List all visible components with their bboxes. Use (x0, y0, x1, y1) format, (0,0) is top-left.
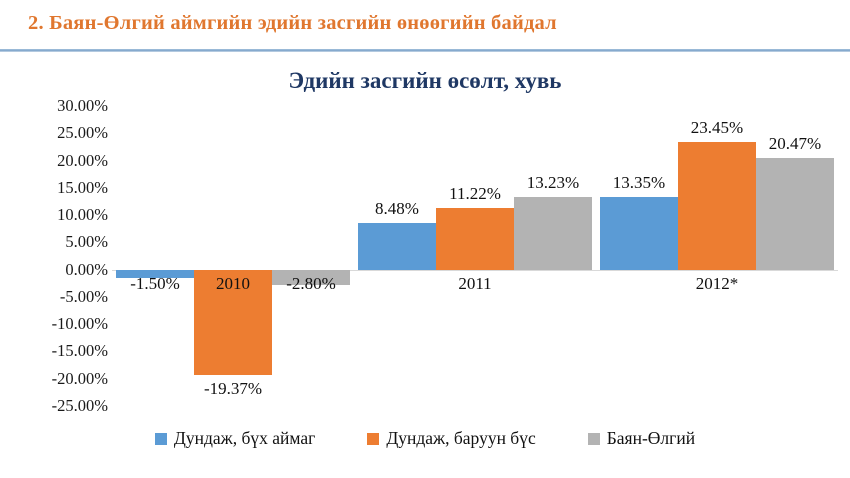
legend-swatch-icon (155, 433, 167, 445)
y-axis-tick-label: 30.00% (0, 98, 108, 115)
bar-2011-series-3[interactable] (514, 197, 592, 269)
slide-canvas: 2. Баян-Өлгий аймгийн эдийн засгийн өнөө… (0, 0, 850, 478)
legend-label: Дундаж, бүх аймаг (174, 428, 315, 449)
bar-2012-series-2[interactable] (678, 142, 756, 270)
bar-2011-series-1[interactable] (358, 223, 436, 269)
bar-value-label: 23.45% (691, 118, 743, 138)
page-title: 2. Баян-Өлгий аймгийн эдийн засгийн өнөө… (28, 12, 557, 35)
bar-2012-series-3[interactable] (756, 158, 834, 270)
y-axis-tick-label: 0.00% (0, 261, 108, 278)
y-axis-tick-label: -20.00% (0, 370, 108, 387)
bar-value-label: -1.50% (130, 274, 180, 294)
bar-2012-series-1[interactable] (600, 197, 678, 270)
slide-header: 2. Баян-Өлгий аймгийн эдийн засгийн өнөө… (0, 0, 850, 52)
header-divider (0, 49, 850, 52)
y-axis-tick-label: 15.00% (0, 180, 108, 197)
legend-label: Дундаж, баруун бүс (386, 428, 535, 449)
bar-value-label: -2.80% (286, 274, 336, 294)
legend-swatch-icon (367, 433, 379, 445)
legend-label: Баян-Өлгий (607, 428, 695, 449)
legend-swatch-icon (588, 433, 600, 445)
bar-value-label: 8.48% (375, 199, 419, 219)
y-axis-tick-label: -25.00% (0, 398, 108, 415)
bar-value-label: -19.37% (204, 379, 262, 399)
y-axis-tick-label: 25.00% (0, 125, 108, 142)
legend-item[interactable]: Дундаж, бүх аймаг (155, 428, 315, 449)
y-axis-tick-label: 5.00% (0, 234, 108, 251)
y-axis-tick-label: -10.00% (0, 316, 108, 333)
bar-value-label: 20.47% (769, 134, 821, 154)
bar-chart: 30.00%25.00%20.00%15.00%10.00%5.00%0.00%… (0, 106, 850, 426)
x-axis-category-label: 2012* (696, 274, 739, 294)
chart-title: Эдийн засгийн өсөлт, хувь (0, 68, 850, 94)
y-axis-tick-label: -5.00% (0, 289, 108, 306)
y-axis-tick-label: -15.00% (0, 343, 108, 360)
bar-value-label: 13.35% (613, 173, 665, 193)
legend-item[interactable]: Дундаж, баруун бүс (367, 428, 535, 449)
y-axis-tick-label: 20.00% (0, 152, 108, 169)
y-axis: 30.00%25.00%20.00%15.00%10.00%5.00%0.00%… (0, 106, 108, 406)
y-axis-tick-label: 10.00% (0, 207, 108, 224)
x-axis-category-label: 2011 (458, 274, 491, 294)
plot-area: -1.50%-19.37%-2.80%20108.48%11.22%13.23%… (112, 106, 838, 406)
x-axis-category-label: 2010 (216, 274, 250, 294)
legend-item[interactable]: Баян-Өлгий (588, 428, 695, 449)
bar-value-label: 13.23% (527, 173, 579, 193)
bar-2011-series-2[interactable] (436, 208, 514, 269)
bar-value-label: 11.22% (449, 184, 501, 204)
chart-legend: Дундаж, бүх аймагДундаж, баруун бүсБаян-… (0, 428, 850, 449)
